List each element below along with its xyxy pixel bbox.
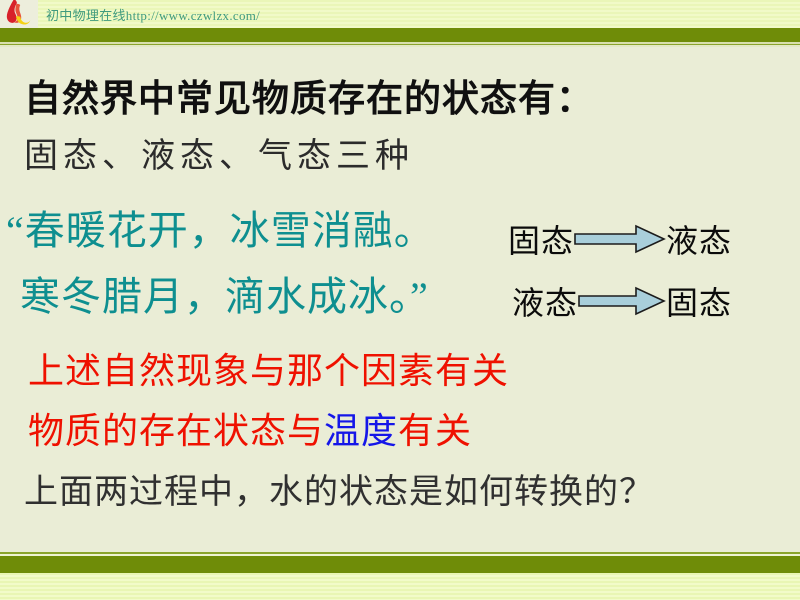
conclusion-prefix: 物质的存在状态与 xyxy=(28,411,324,451)
diagram-2-from-label: 液态 xyxy=(512,278,578,324)
state-transition-diagram-2: 液态 固态 xyxy=(512,278,732,324)
flame-logo-icon xyxy=(2,0,38,29)
final-question-line: 上面两过程中，水的状态是如何转换的？ xyxy=(24,464,654,513)
quote-line-2: 寒冬腊月，滴水成冰。” xyxy=(20,264,429,322)
bottom-striped-band xyxy=(0,573,800,600)
state-transition-diagram-1: 固态 液态 xyxy=(508,216,732,262)
site-label[interactable]: 初中物理在线http://www.czwlzx.com/ xyxy=(46,5,260,24)
conclusion-suffix: 有关 xyxy=(398,411,472,451)
slide-subtitle: 固态、液态、气态三种 xyxy=(24,128,414,177)
quote-line-1: “春暖花开，冰雪消融。 xyxy=(6,198,435,256)
conclusion-highlight-temperature: 温度 xyxy=(324,411,398,451)
top-hairline-pale xyxy=(0,45,800,47)
slide-title: 自然界中常见物质存在的状态有： xyxy=(24,68,594,122)
diagram-1-from-label: 固态 xyxy=(508,216,574,262)
question-red-line: 上述自然现象与那个因素有关 xyxy=(28,342,509,394)
conclusion-line: 物质的存在状态与温度有关 xyxy=(28,402,472,454)
right-block-arrow-icon xyxy=(578,284,666,318)
diagram-2-to-label: 固态 xyxy=(666,278,732,324)
right-block-arrow-icon xyxy=(574,222,666,256)
bottom-olive-bar xyxy=(0,556,800,573)
top-olive-bar xyxy=(0,28,800,42)
slide-canvas: 初中物理在线http://www.czwlzx.com/ 自然界中常见物质存在的… xyxy=(0,0,800,600)
diagram-1-to-label: 液态 xyxy=(666,216,732,262)
